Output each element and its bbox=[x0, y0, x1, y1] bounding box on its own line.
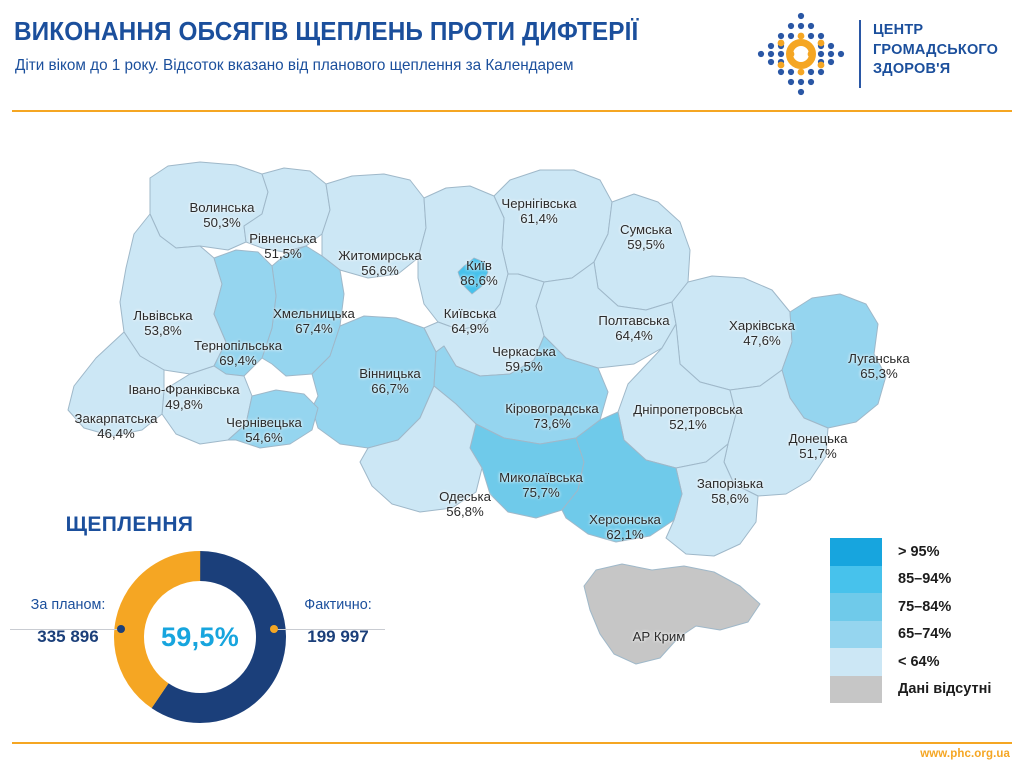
legend-label: 65–74% bbox=[898, 626, 951, 642]
page-subtitle: Діти віком до 1 року. Відсоток вказано в… bbox=[15, 57, 574, 75]
legend-label: 75–84% bbox=[898, 599, 951, 615]
footer-divider bbox=[12, 742, 1012, 744]
legend-swatch bbox=[830, 593, 882, 621]
legend-label: 85–94% bbox=[898, 571, 951, 587]
vaccination-donut-panel: ЩЕПЛЕННЯ 59,5% За планом: 335 896 Фактич… bbox=[0, 505, 395, 730]
legend-swatch bbox=[830, 621, 882, 649]
legend-row: Дані відсутні bbox=[830, 676, 1020, 704]
fact-value: 199 997 bbox=[278, 627, 398, 647]
legend-label: < 64% bbox=[898, 654, 940, 670]
donut-center-value: 59,5% bbox=[110, 547, 290, 727]
logo-text-line-2: ГРОМАДСЬКОГО bbox=[873, 41, 998, 61]
logo-divider bbox=[859, 20, 861, 88]
legend-row: 75–84% bbox=[830, 593, 1020, 621]
legend-label: Дані відсутні bbox=[898, 681, 991, 697]
legend-row: 85–94% bbox=[830, 566, 1020, 594]
map-region[interactable] bbox=[584, 564, 760, 664]
phc-logo: ЦЕНТР ГРОМАДСЬКОГО ЗДОРОВ'Я bbox=[755, 10, 1010, 98]
fact-connector-dot bbox=[270, 625, 278, 633]
map-region[interactable] bbox=[782, 294, 886, 428]
legend-label: > 95% bbox=[898, 544, 940, 560]
logo-text: ЦЕНТР ГРОМАДСЬКОГО ЗДОРОВ'Я bbox=[873, 21, 998, 80]
header-divider bbox=[12, 110, 1012, 112]
legend-row: > 95% bbox=[830, 538, 1020, 566]
legend-swatch bbox=[830, 648, 882, 676]
legend-row: < 64% bbox=[830, 648, 1020, 676]
map-region[interactable] bbox=[322, 174, 426, 278]
fact-block: Фактично: 199 997 bbox=[278, 597, 398, 647]
fact-caption: Фактично: bbox=[278, 597, 398, 613]
map-region[interactable] bbox=[418, 186, 508, 330]
legend-swatch bbox=[830, 676, 882, 704]
legend-swatch bbox=[830, 566, 882, 594]
map-legend: > 95%85–94%75–84%65–74%< 64%Дані відсутн… bbox=[830, 538, 1020, 703]
logo-text-line-3: ЗДОРОВ'Я bbox=[873, 60, 998, 80]
donut-title: ЩЕПЛЕННЯ bbox=[0, 513, 395, 537]
plan-caption: За планом: bbox=[8, 597, 128, 613]
page-title: ВИКОНАННЯ ОБСЯГІВ ЩЕПЛЕНЬ ПРОТИ ДИФТЕРІЇ bbox=[14, 18, 638, 47]
infographic-root: ВИКОНАННЯ ОБСЯГІВ ЩЕПЛЕНЬ ПРОТИ ДИФТЕРІЇ… bbox=[0, 0, 1024, 768]
logo-dot-mark bbox=[755, 10, 847, 98]
logo-text-line-1: ЦЕНТР bbox=[873, 21, 998, 41]
plan-value: 335 896 bbox=[8, 627, 128, 647]
header: ВИКОНАННЯ ОБСЯГІВ ЩЕПЛЕНЬ ПРОТИ ДИФТЕРІЇ… bbox=[0, 0, 1024, 110]
plan-block: За планом: 335 896 bbox=[8, 597, 128, 647]
footer-url: www.phc.org.ua bbox=[920, 748, 1010, 760]
legend-row: 65–74% bbox=[830, 621, 1020, 649]
legend-swatch bbox=[830, 538, 882, 566]
